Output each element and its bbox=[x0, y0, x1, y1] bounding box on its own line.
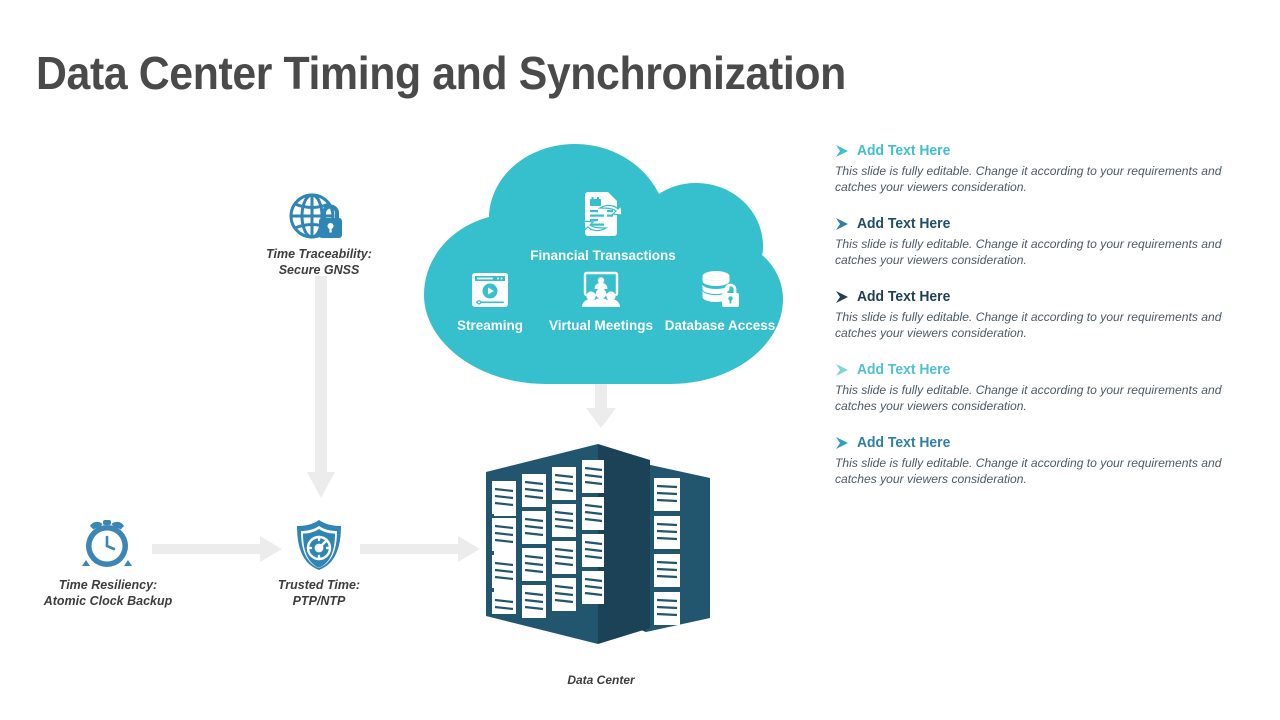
cloud-group: Financial Transactions Streaming bbox=[418, 136, 788, 386]
diagram-canvas: Financial Transactions Streaming bbox=[0, 0, 820, 720]
bullet-heading[interactable]: Add Text Here bbox=[857, 288, 950, 306]
arrow-right-trusted-to-datacenter bbox=[360, 535, 480, 563]
cloud-item-label: Database Access bbox=[665, 318, 776, 333]
bullet-body[interactable]: This slide is fully editable. Change it … bbox=[835, 456, 1233, 487]
bullet-heading-row: Add Text Here bbox=[835, 215, 1247, 233]
trusted-time-label-line1: Trusted Time: bbox=[219, 578, 419, 594]
datacenter-caption: Data Center bbox=[501, 673, 701, 689]
bullet-body[interactable]: This slide is fully editable. Change it … bbox=[835, 237, 1233, 268]
alarm-clock-icon bbox=[78, 518, 136, 575]
bullet-heading-row: Add Text Here bbox=[835, 434, 1247, 452]
shield-clock-icon bbox=[293, 518, 345, 577]
bullet-body[interactable]: This slide is fully editable. Change it … bbox=[835, 383, 1233, 414]
trusted-time-label: Trusted Time: PTP/NTP bbox=[219, 578, 419, 609]
invoice-exchange-icon bbox=[468, 191, 738, 244]
bullet-list: Add Text Here This slide is fully editab… bbox=[835, 142, 1247, 487]
arrow-right-resiliency-to-trusted bbox=[152, 535, 282, 563]
server-building-icon bbox=[478, 432, 728, 662]
bullet-heading[interactable]: Add Text Here bbox=[857, 215, 950, 233]
trusted-time-label-line2: PTP/NTP bbox=[219, 594, 419, 610]
bullet-heading[interactable]: Add Text Here bbox=[857, 142, 950, 160]
bullet-item: Add Text Here This slide is fully editab… bbox=[835, 361, 1247, 414]
cloud-item-database: Database Access bbox=[650, 269, 790, 335]
database-lock-icon bbox=[650, 269, 790, 314]
chevron-right-icon bbox=[835, 218, 857, 230]
resiliency-label: Time Resiliency: Atomic Clock Backup bbox=[8, 578, 208, 609]
chevron-right-icon bbox=[835, 145, 857, 157]
cloud-item-label: Virtual Meetings bbox=[549, 318, 653, 333]
globe-lock-icon bbox=[288, 192, 346, 251]
gnss-label-line1: Time Traceability: bbox=[219, 247, 419, 263]
chevron-right-icon bbox=[835, 364, 857, 376]
cloud-item-label: Financial Transactions bbox=[530, 248, 676, 263]
gnss-label-line2: Secure GNSS bbox=[219, 263, 419, 279]
resiliency-label-line2: Atomic Clock Backup bbox=[8, 594, 208, 610]
chevron-right-icon bbox=[835, 291, 857, 303]
cloud-item-label: Streaming bbox=[457, 318, 523, 333]
arrow-down-gnss-to-trusted bbox=[306, 276, 336, 506]
bullet-heading-row: Add Text Here bbox=[835, 288, 1247, 306]
cloud-item-financial: Financial Transactions bbox=[468, 191, 738, 265]
bullet-body[interactable]: This slide is fully editable. Change it … bbox=[835, 310, 1233, 341]
bullet-item: Add Text Here This slide is fully editab… bbox=[835, 142, 1247, 195]
bullet-item: Add Text Here This slide is fully editab… bbox=[835, 288, 1247, 341]
resiliency-label-line1: Time Resiliency: bbox=[8, 578, 208, 594]
bullet-heading-row: Add Text Here bbox=[835, 142, 1247, 160]
chevron-right-icon bbox=[835, 437, 857, 449]
bullet-item: Add Text Here This slide is fully editab… bbox=[835, 215, 1247, 268]
bullet-item: Add Text Here This slide is fully editab… bbox=[835, 434, 1247, 487]
gnss-label: Time Traceability: Secure GNSS bbox=[219, 247, 419, 278]
bullet-body[interactable]: This slide is fully editable. Change it … bbox=[835, 164, 1233, 195]
bullet-heading-row: Add Text Here bbox=[835, 361, 1247, 379]
bullet-heading[interactable]: Add Text Here bbox=[857, 434, 950, 452]
bullet-heading[interactable]: Add Text Here bbox=[857, 361, 950, 379]
